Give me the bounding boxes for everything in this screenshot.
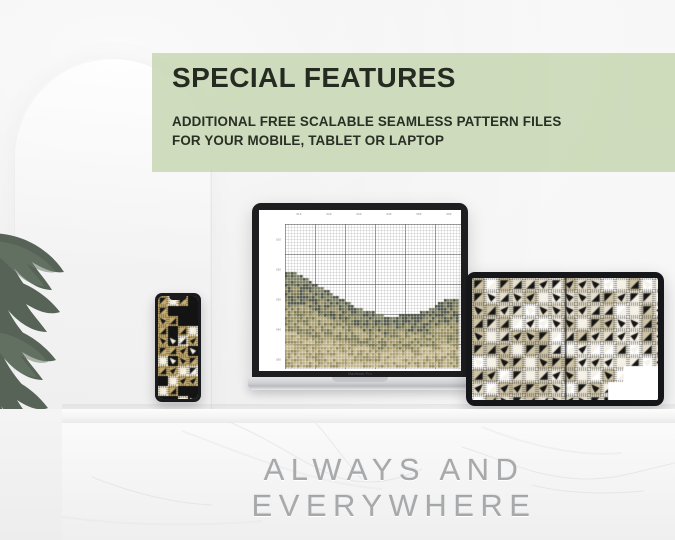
chart-x-tick: 040 bbox=[387, 213, 392, 216]
chart-y-axis: 010020030040050 bbox=[259, 224, 283, 369]
chart-y-tick: 020 bbox=[276, 269, 281, 272]
chart-x-tick: 030 bbox=[357, 213, 362, 216]
tablet-pattern-canvas[interactable] bbox=[472, 278, 658, 400]
tablet-body bbox=[466, 272, 664, 406]
laptop-brand-label: MacBook Pro bbox=[248, 372, 472, 376]
tablet-device bbox=[466, 272, 664, 406]
banner-subtitle-line-1: ADDITIONAL FREE SCALABLE SEAMLESS PATTER… bbox=[172, 112, 602, 131]
chart-y-tick: 010 bbox=[276, 239, 281, 242]
laptop-device: 010020030040050 010020030040050060070 Ma… bbox=[248, 203, 472, 399]
phone-body bbox=[155, 293, 201, 402]
chart-x-tick: 020 bbox=[327, 213, 332, 216]
laptop-trackpad-notch bbox=[332, 377, 388, 382]
phone-screen[interactable] bbox=[158, 296, 198, 399]
phone-pattern-canvas[interactable] bbox=[158, 296, 198, 399]
laptop-lid: 010020030040050 010020030040050060070 bbox=[252, 203, 468, 378]
cross-stitch-pattern-canvas[interactable] bbox=[285, 224, 461, 369]
engraved-tagline: ALWAYS AND EVERYWHERE bbox=[140, 452, 648, 524]
phone-notch bbox=[170, 296, 187, 300]
chart-x-tick: 050 bbox=[417, 213, 422, 216]
page-title: SPECIAL FEATURES bbox=[172, 62, 456, 94]
floor-left bbox=[0, 409, 64, 540]
chart-plot-area[interactable] bbox=[285, 224, 461, 369]
chart-y-tick: 040 bbox=[276, 329, 281, 332]
special-features-banner: SPECIAL FEATURES ADDITIONAL FREE SCALABL… bbox=[152, 53, 675, 172]
chart-y-tick: 030 bbox=[276, 299, 281, 302]
laptop-screen[interactable]: 010020030040050 010020030040050060070 bbox=[259, 210, 461, 371]
phone-device bbox=[155, 293, 201, 402]
banner-subtitle-line-2: FOR YOUR MOBILE, TABLET OR LAPTOP bbox=[172, 131, 602, 150]
chart-x-tick: 060 bbox=[447, 213, 452, 216]
chart-x-axis: 010020030040050060070 bbox=[285, 213, 461, 222]
chart-x-tick: 010 bbox=[297, 213, 302, 216]
pattern-editor-chart[interactable]: 010020030040050 010020030040050060070 bbox=[259, 210, 461, 371]
tablet-screen[interactable] bbox=[472, 278, 658, 400]
chart-y-tick: 050 bbox=[276, 359, 281, 362]
banner-subtitle: ADDITIONAL FREE SCALABLE SEAMLESS PATTER… bbox=[172, 112, 602, 150]
counter-top-surface bbox=[62, 409, 675, 423]
promo-mockup-scene: SPECIAL FEATURES ADDITIONAL FREE SCALABL… bbox=[0, 0, 675, 540]
